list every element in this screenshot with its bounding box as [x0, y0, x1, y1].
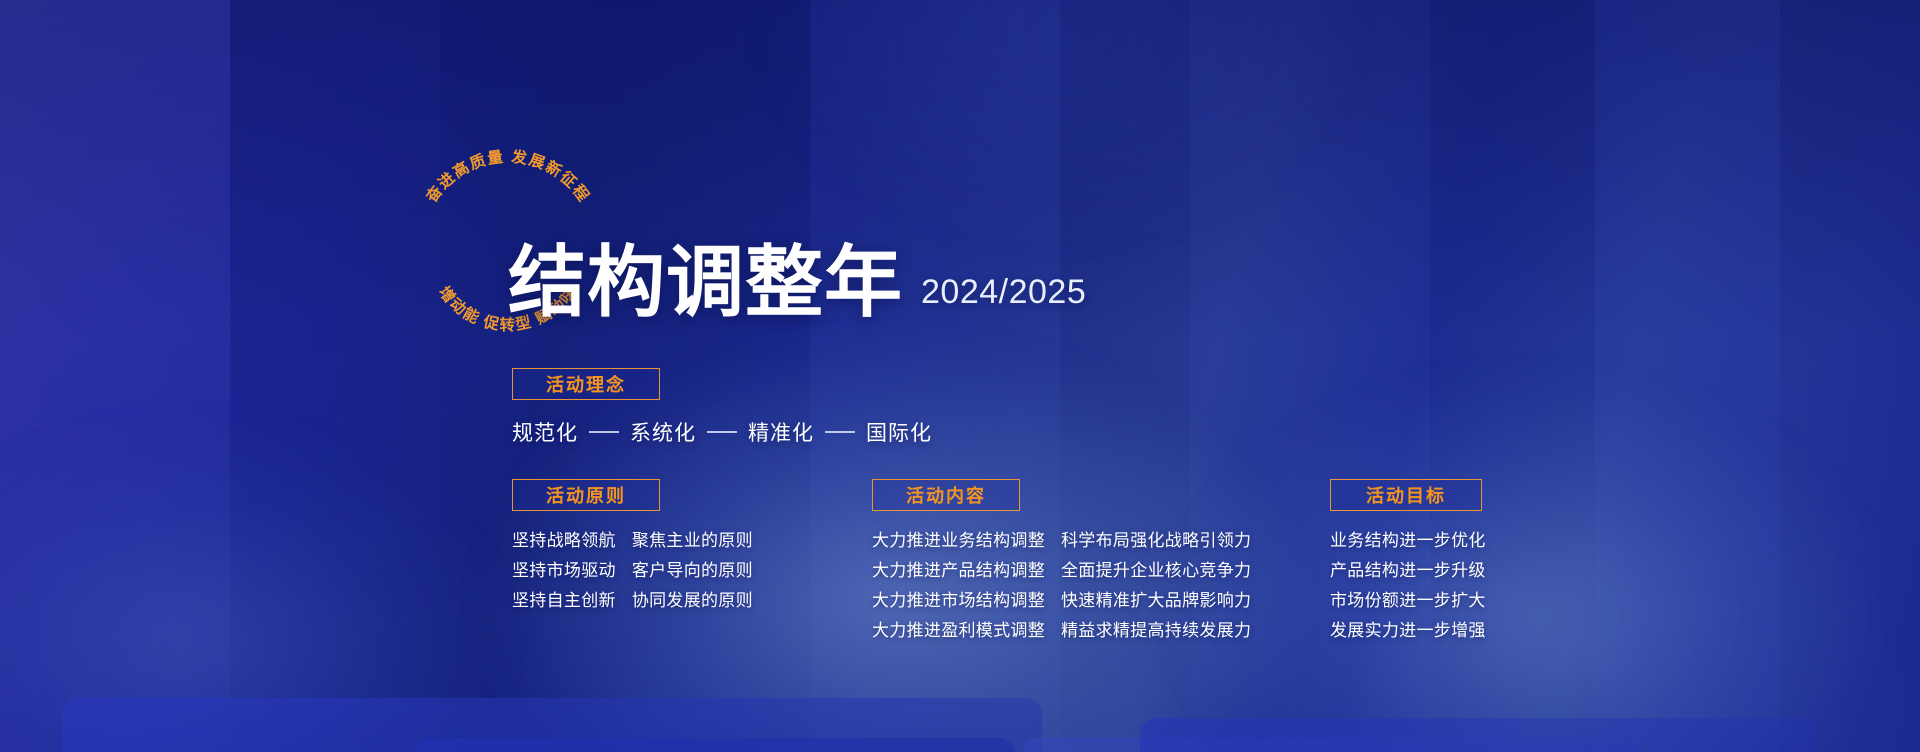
badge-activity-goals: 活动目标: [1330, 479, 1482, 511]
row-segment-a: 大力推进市场结构调整: [872, 592, 1045, 609]
concept-separator-icon: [589, 431, 619, 433]
row-segment-a: 大力推进盈利模式调整: [872, 622, 1045, 639]
list-item: 大力推进盈利模式调整 精益求精提高持续发展力: [872, 622, 1251, 639]
year-label: 2024/2025: [921, 273, 1086, 312]
badge-activity-concept: 活动理念: [512, 368, 660, 400]
row-segment-b: 协同发展的原则: [632, 592, 753, 609]
list-item: 大力推进产品结构调整 全面提升企业核心竞争力: [872, 562, 1251, 579]
list-item: 产品结构进一步升级: [1330, 562, 1486, 579]
row-segment-a: 坚持战略领航: [512, 532, 616, 549]
list-item: 大力推进市场结构调整 快速精准扩大品牌影响力: [872, 592, 1251, 609]
row-segment-b: 聚焦主业的原则: [632, 532, 753, 549]
row-segment-a: 业务结构进一步优化: [1330, 532, 1486, 549]
row-segment-b: 科学布局强化战略引领力: [1061, 532, 1251, 549]
concept-separator-icon: [707, 431, 737, 433]
row-segment-a: 市场份额进一步扩大: [1330, 592, 1486, 609]
page-title: 结构调整年: [508, 243, 903, 321]
list-item: 业务结构进一步优化: [1330, 532, 1486, 549]
list-item: 市场份额进一步扩大: [1330, 592, 1486, 609]
badge-activity-content: 活动内容: [872, 479, 1020, 511]
banner-stage: 奋进高质量 发展新征程 增动能 促转型 赋动味 结构调整年 2024/2025 …: [0, 0, 1920, 752]
list-item: 发展实力进一步增强: [1330, 622, 1486, 639]
badge-activity-principles: 活动原则: [512, 479, 660, 511]
list-item: 坚持自主创新 协同发展的原则: [512, 592, 753, 609]
column-activity-content: 大力推进业务结构调整 科学布局强化战略引领力 大力推进产品结构调整 全面提升企业…: [872, 532, 1251, 652]
column-activity-principles: 坚持战略领航 聚焦主业的原则 坚持市场驱动 客户导向的原则 坚持自主创新 协同发…: [512, 532, 753, 622]
row-segment-a: 大力推进业务结构调整: [872, 532, 1045, 549]
row-segment-a: 坚持市场驱动: [512, 562, 616, 579]
row-segment-b: 精益求精提高持续发展力: [1061, 622, 1251, 639]
concept-item: 规范化: [512, 417, 578, 447]
concept-item: 国际化: [866, 417, 932, 447]
row-segment-a: 坚持自主创新: [512, 592, 616, 609]
row-segment-a: 产品结构进一步升级: [1330, 562, 1486, 579]
column-activity-goals: 业务结构进一步优化 产品结构进一步升级 市场份额进一步扩大 发展实力进一步增强: [1330, 532, 1486, 652]
row-segment-a: 大力推进产品结构调整: [872, 562, 1045, 579]
list-item: 坚持市场驱动 客户导向的原则: [512, 562, 753, 579]
concept-separator-icon: [825, 431, 855, 433]
concept-item: 精准化: [748, 417, 814, 447]
row-segment-b: 全面提升企业核心竞争力: [1061, 562, 1251, 579]
title-row: 结构调整年 2024/2025: [508, 243, 1086, 321]
list-item: 坚持战略领航 聚焦主业的原则: [512, 532, 753, 549]
row-segment-a: 发展实力进一步增强: [1330, 622, 1486, 639]
concept-chain: 规范化 系统化 精准化 国际化: [512, 417, 932, 447]
row-segment-b: 客户导向的原则: [632, 562, 753, 579]
list-item: 大力推进业务结构调整 科学布局强化战略引领力: [872, 532, 1251, 549]
row-segment-b: 快速精准扩大品牌影响力: [1061, 592, 1251, 609]
seal-top-arc-text: 奋进高质量 发展新征程: [421, 147, 593, 207]
concept-item: 系统化: [630, 417, 696, 447]
